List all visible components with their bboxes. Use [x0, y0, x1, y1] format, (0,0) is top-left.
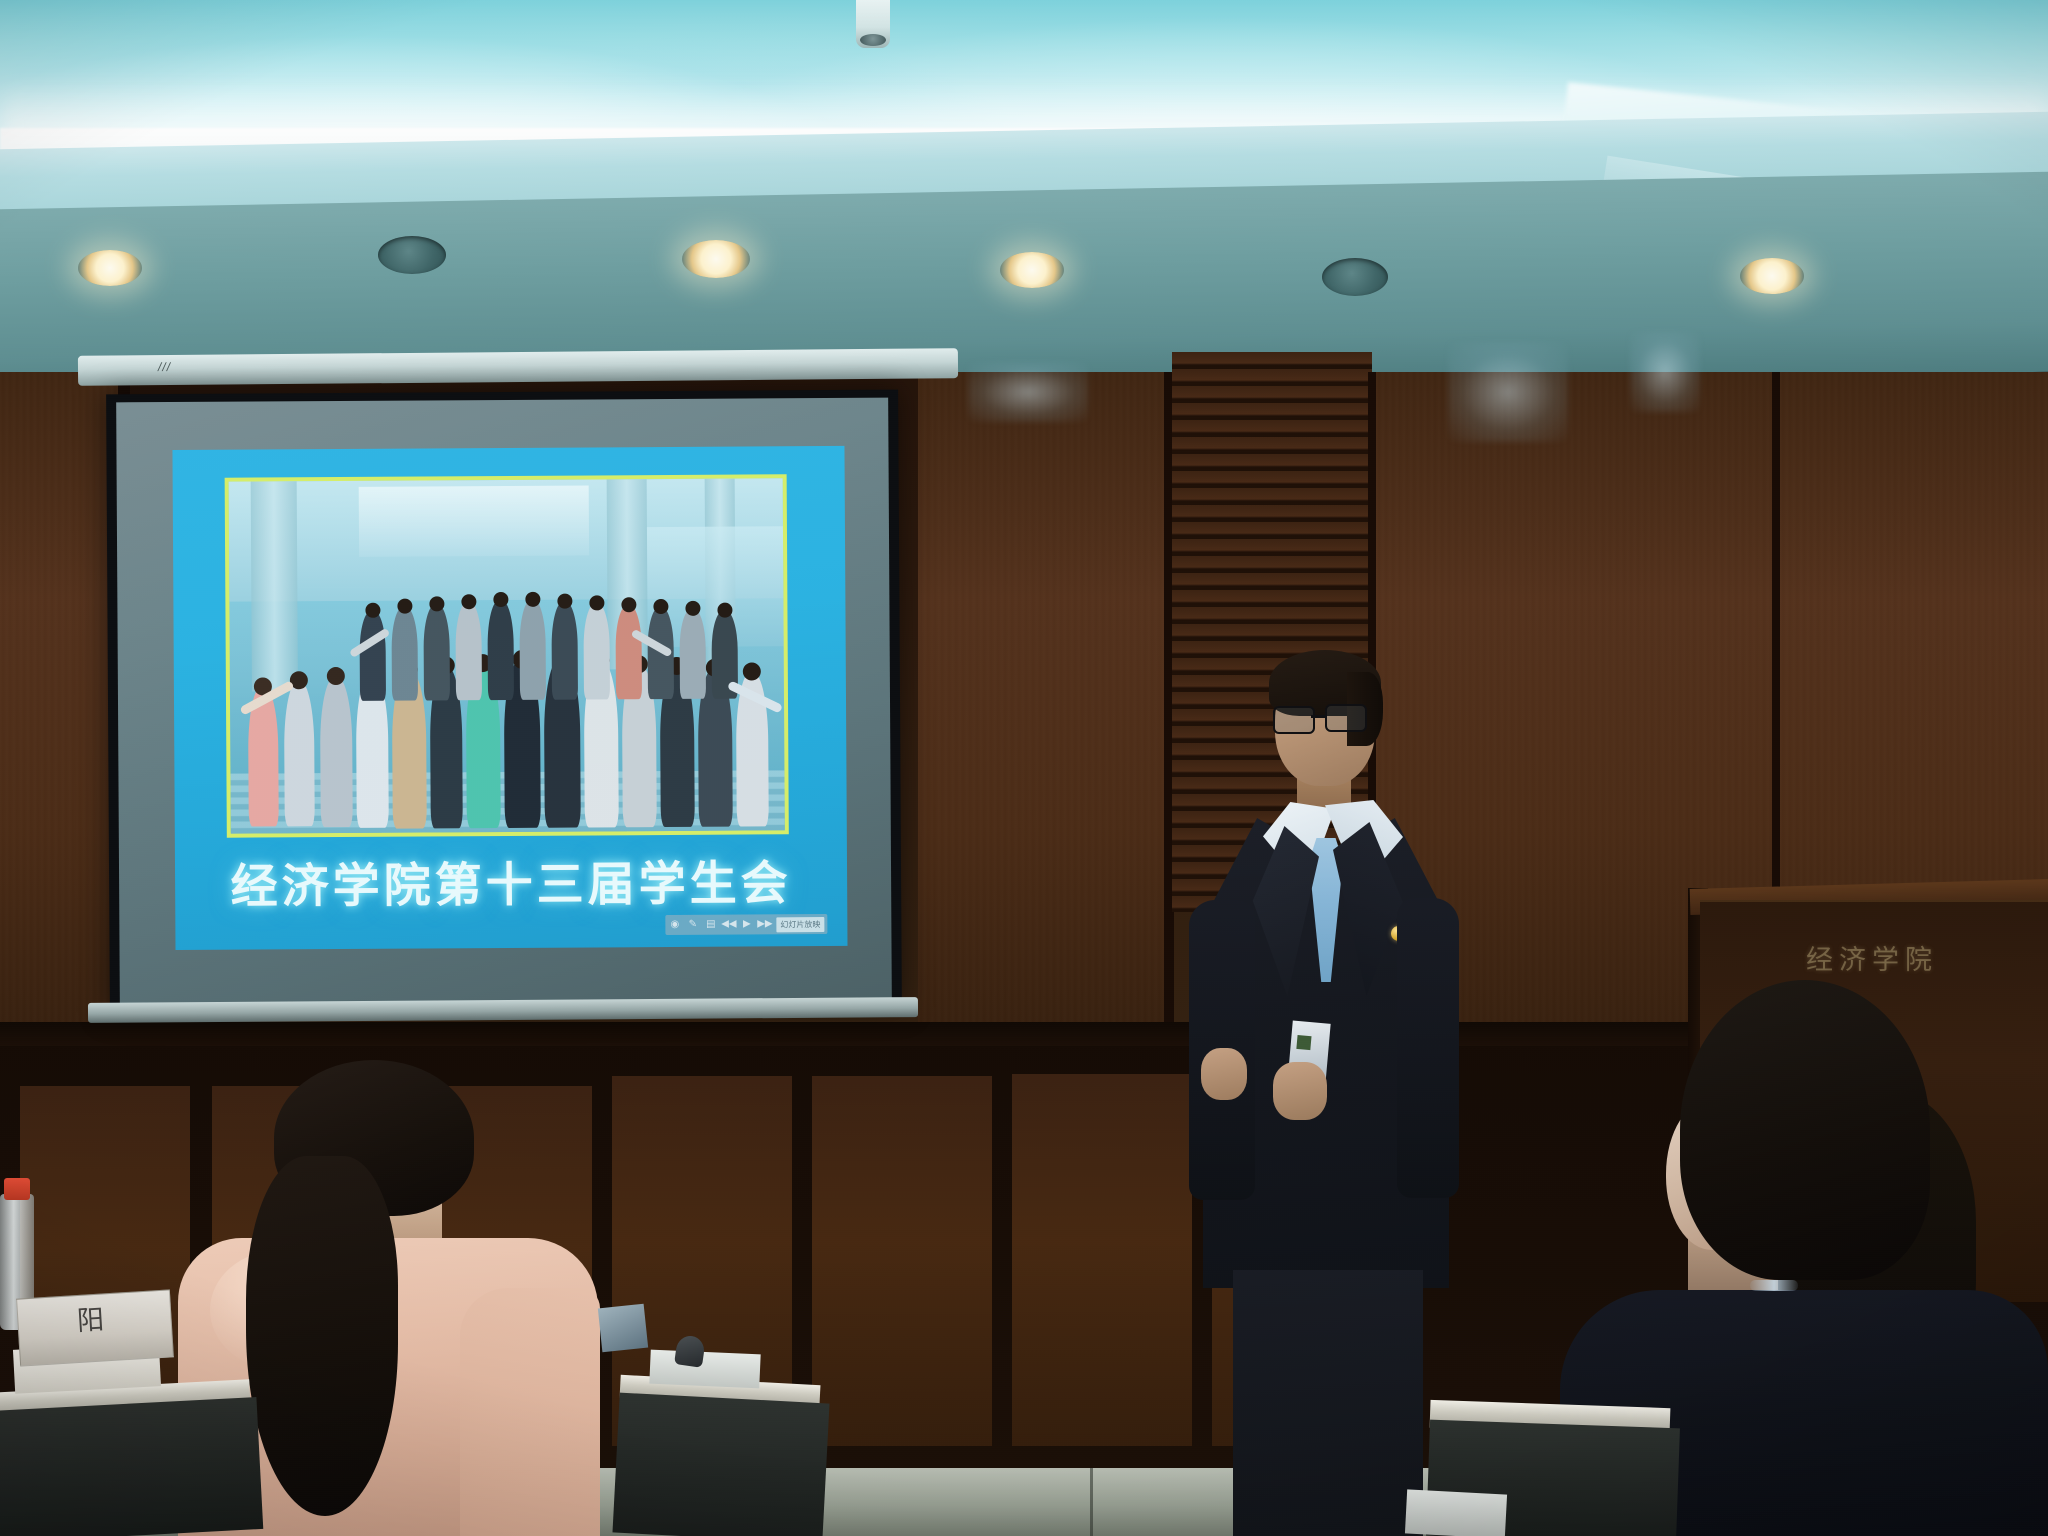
projector-screen-surface: 经济学院第十三届学生会 ◉ ✎ ▤ ◀◀ ▶ ▶▶ 幻灯片放映 [116, 398, 892, 1005]
slide-title: 经济学院第十三届学生会 [175, 844, 847, 917]
audience-left-ponytail [246, 1156, 398, 1516]
downlight-2 [378, 236, 446, 274]
presenter-hand-right [1273, 1062, 1327, 1120]
downlight-1 [78, 250, 142, 286]
roller-brand-mark: /// [158, 360, 171, 374]
pointer-icon[interactable]: ◉ [668, 918, 681, 931]
next-icon[interactable]: ▶▶ [758, 918, 771, 931]
wainscot-panel-6 [1012, 1074, 1192, 1446]
audience-right-collar [1750, 1280, 1798, 1291]
pen-icon[interactable]: ✎ [686, 918, 699, 931]
presentation-slide[interactable]: 经济学院第十三届学生会 ◉ ✎ ▤ ◀◀ ▶ ▶▶ 幻灯片放映 [172, 446, 847, 950]
audience-left-arm [460, 1288, 600, 1536]
desk-middle-front [612, 1393, 829, 1536]
presenter-trousers [1233, 1270, 1423, 1536]
podium-label: 经济学院 [1806, 938, 1938, 977]
projector-screen: 经济学院第十三届学生会 ◉ ✎ ▤ ◀◀ ▶ ▶▶ 幻灯片放映 [106, 390, 902, 1013]
highlighter-icon[interactable]: ▤ [704, 918, 717, 931]
desk-left-front [0, 1397, 263, 1536]
downlight-5 [1322, 258, 1388, 296]
presenter-hand-left [1201, 1048, 1247, 1100]
media-bar-label: 幻灯片放映 [776, 917, 824, 932]
wainscot-panel-5 [812, 1076, 992, 1446]
name-placard: 阳 [16, 1289, 174, 1366]
slide-media-toolbar[interactable]: ◉ ✎ ▤ ◀◀ ▶ ▶▶ 幻灯片放映 [665, 914, 827, 935]
play-icon[interactable]: ▶ [740, 918, 753, 931]
slide-group-photo [229, 478, 785, 833]
wall-panel-far-left [0, 372, 120, 1022]
wall-glare-2 [1448, 342, 1568, 442]
downlight-6 [1740, 258, 1804, 294]
wall-glare-1 [968, 362, 1088, 422]
presenter [1185, 650, 1465, 1536]
glasses-icon [1273, 706, 1369, 730]
wall-panel-center [918, 372, 1168, 1022]
presenter-arm-right [1397, 898, 1459, 1198]
name-placard-text: 阳 [18, 1302, 171, 1338]
mobile-phone [598, 1304, 648, 1353]
audience-right-hair [1680, 980, 1930, 1280]
floor-tile-line-3 [1090, 1468, 1093, 1536]
previous-icon[interactable]: ◀◀ [722, 918, 735, 931]
slide-photo-border [225, 474, 789, 837]
bottle-cap [4, 1178, 30, 1200]
downlight-4 [1000, 252, 1064, 288]
paper-right [1405, 1489, 1507, 1536]
lecture-hall-photo: /// [0, 0, 2048, 1536]
wall-glare-3 [1630, 332, 1700, 412]
downlight-3 [682, 240, 750, 278]
smoke-detector-icon [856, 0, 890, 48]
papers-stack [649, 1350, 760, 1389]
